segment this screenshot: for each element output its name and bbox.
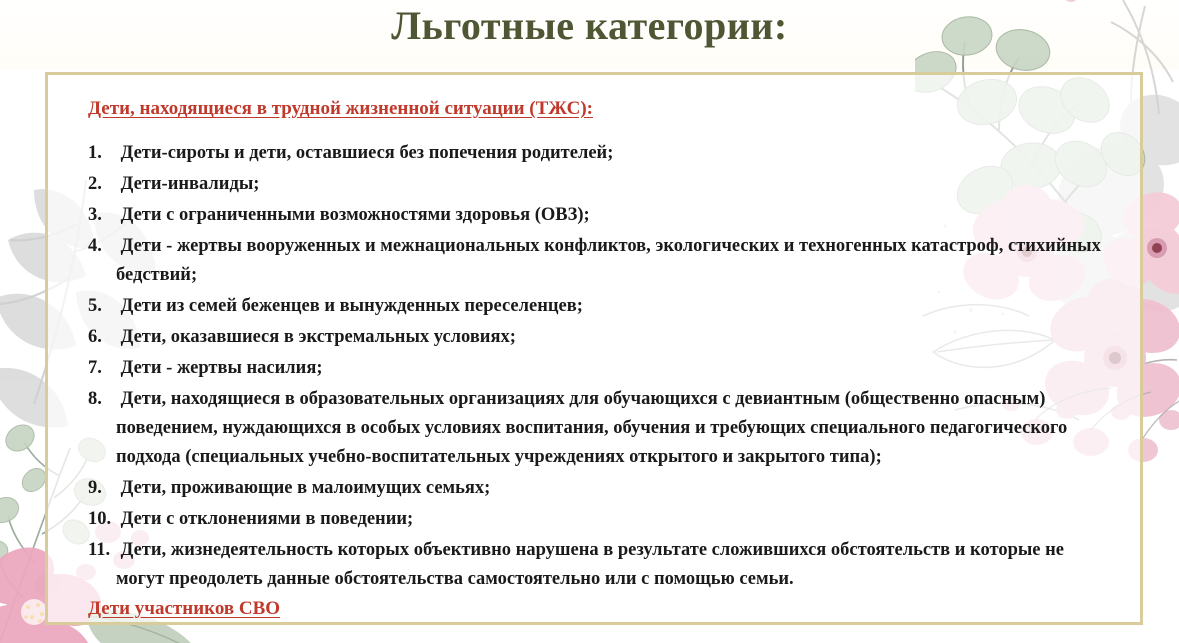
list-item-number: 11. — [88, 536, 116, 565]
list-item-number: 1. — [88, 139, 116, 168]
list-item-number: 4. — [88, 232, 116, 261]
list-item-number: 9. — [88, 474, 116, 503]
section-heading-tzhs: Дети, находящиеся в трудной жизненной си… — [88, 98, 1108, 121]
list-item-number: 10. — [88, 505, 116, 534]
list-item: 3. Дети с ограниченными возможностями зд… — [88, 201, 1108, 230]
list-item-text: Дети, оказавшиеся в экстремальных услови… — [121, 327, 516, 347]
list-item-text: Дети с отклонениями в поведении; — [121, 509, 414, 529]
list-item-text: Дети-инвалиды; — [121, 174, 260, 194]
list-item-text: Дети с ограниченными возможностями здоро… — [121, 205, 590, 225]
list-item-text: Дети - жертвы вооруженных и межнациональ… — [116, 236, 1101, 285]
list-item-text: Дети, находящиеся в образовательных орга… — [116, 389, 1067, 467]
slide-root: Льготные категории: Дети, находящиеся в … — [0, 0, 1179, 643]
list-item: 9. Дети, проживающие в малоимущих семьях… — [88, 474, 1108, 503]
list-item-text: Дети из семей беженцев и вынужденных пер… — [121, 296, 583, 316]
list-item-text: Дети-сироты и дети, оставшиеся без попеч… — [121, 143, 614, 163]
list-item: 6. Дети, оказавшиеся в экстремальных усл… — [88, 323, 1108, 352]
list-item-number: 2. — [88, 170, 116, 199]
list-item-number: 3. — [88, 201, 116, 230]
list-item: 1. Дети-сироты и дети, оставшиеся без по… — [88, 139, 1108, 168]
list-item-text: Дети - жертвы насилия; — [121, 358, 323, 378]
list-item: 10. Дети с отклонениями в поведении; — [88, 505, 1108, 534]
list-item: 11. Дети, жизнедеятельность которых объе… — [88, 536, 1108, 594]
list-item-text: Дети, жизнедеятельность которых объектив… — [116, 540, 1064, 589]
list-item-number: 6. — [88, 323, 116, 352]
list-item: 5. Дети из семей беженцев и вынужденных … — [88, 292, 1108, 321]
list-item: 7. Дети - жертвы насилия; — [88, 354, 1108, 383]
list-item: 8. Дети, находящиеся в образовательных о… — [88, 385, 1108, 472]
list-item: 2. Дети-инвалиды; — [88, 170, 1108, 199]
footer-note-svo: Дети участников СВО — [88, 598, 1108, 621]
list-item-number: 5. — [88, 292, 116, 321]
list-item-number: 7. — [88, 354, 116, 383]
page-title: Льготные категории: — [0, 4, 1179, 48]
list-item-text: Дети, проживающие в малоимущих семьях; — [121, 478, 491, 498]
list-item: 4. Дети - жертвы вооруженных и межнацион… — [88, 232, 1108, 290]
list-item-number: 8. — [88, 385, 116, 414]
content-body: Дети, находящиеся в трудной жизненной си… — [88, 98, 1108, 621]
category-list: 1. Дети-сироты и дети, оставшиеся без по… — [88, 139, 1108, 594]
